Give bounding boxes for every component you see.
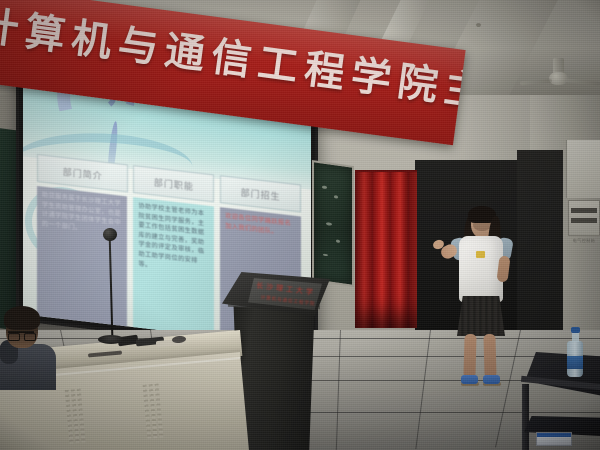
shirt-logo-icon — [476, 251, 485, 258]
microphone-icon — [103, 228, 117, 241]
presenter-skirt — [457, 296, 505, 336]
slide-column: 部门职能 协助学校主管老师为本院贫困生同学服务，主要工作包括贫困生数据库的建立与… — [133, 165, 214, 339]
slide-column-body: 助贷服务属于长沙理工大学学生资助管理办公室，也是计通学院学生团体学生会中的一个部… — [37, 186, 127, 329]
presenter-leg — [463, 334, 476, 378]
water-bottle-label — [567, 356, 583, 369]
blackboard — [312, 160, 354, 287]
stage-backdrop — [517, 150, 563, 350]
glasses-icon — [8, 331, 34, 339]
wall-panel-label: 电气控制箱 — [568, 238, 600, 244]
water-bottle-cap — [571, 327, 580, 333]
stage-curtain — [355, 172, 417, 328]
wall-control-panel[interactable] — [568, 200, 600, 236]
presenter-leg — [483, 334, 496, 378]
equipment-cart-leg — [522, 384, 529, 450]
presenter-shirt — [459, 236, 503, 302]
attendee-hair — [4, 306, 40, 330]
equipment-label-tag — [536, 432, 572, 446]
presenter-sandal — [461, 375, 478, 384]
lecture-hall-photo: 电气控制箱 部门简介 助贷服务属于长沙理工大学学生资助管理办公室，也是计通学院学… — [0, 0, 600, 450]
presenter-sandal — [483, 375, 500, 384]
ceiling-fan-icon — [549, 72, 568, 85]
window-roller-blind — [566, 140, 600, 198]
microphone-base — [98, 335, 124, 344]
slide-column: 部门简介 助贷服务属于长沙理工大学学生资助管理办公室，也是计通学院学生团体学生会… — [37, 154, 127, 329]
slide-column-body: 协助学校主管老师为本院贫困生同学服务，主要工作包括贫困生数据库的建立与完善，奖助… — [133, 197, 214, 339]
